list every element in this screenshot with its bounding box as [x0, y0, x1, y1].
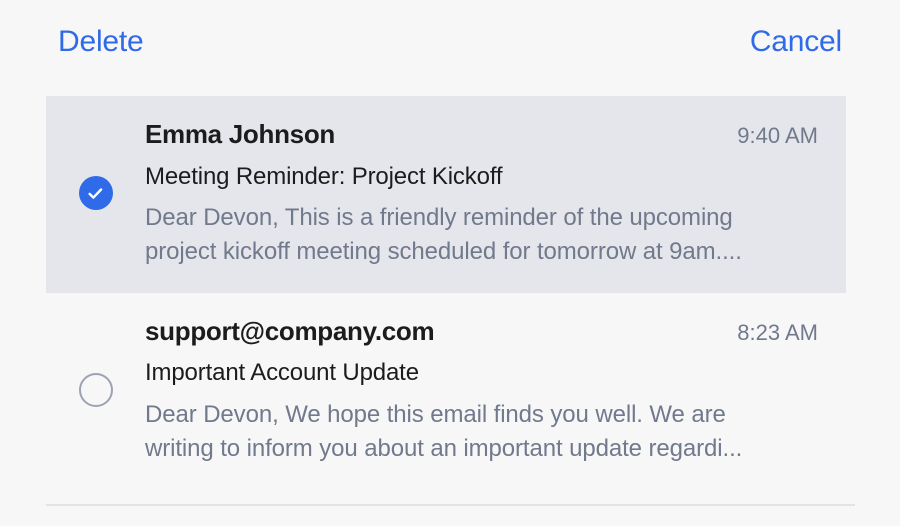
email-list: Emma Johnson 9:40 AM Meeting Reminder: P…	[0, 96, 900, 490]
email-timestamp: 9:40 AM	[737, 122, 818, 150]
delete-button[interactable]: Delete	[58, 27, 144, 57]
email-header-line: Emma Johnson 9:40 AM	[145, 118, 818, 151]
email-sender: support@company.com	[145, 315, 434, 348]
list-divider	[46, 504, 855, 506]
email-preview: Dear Devon, We hope this email finds you…	[145, 398, 790, 466]
email-sender: Emma Johnson	[145, 118, 335, 151]
circle-outline-icon[interactable]	[79, 373, 113, 407]
cancel-button[interactable]: Cancel	[750, 27, 842, 57]
email-list-item-selected[interactable]: Emma Johnson 9:40 AM Meeting Reminder: P…	[46, 96, 846, 293]
email-subject: Meeting Reminder: Project Kickoff	[145, 161, 818, 192]
select-checkbox-cell[interactable]	[46, 118, 145, 269]
email-selection-screen: Delete Cancel Emma Johnson 9:40 AM	[0, 0, 900, 526]
email-content: Emma Johnson 9:40 AM Meeting Reminder: P…	[145, 118, 846, 269]
check-circle-filled-icon[interactable]	[79, 176, 113, 210]
email-subject: Important Account Update	[145, 357, 818, 388]
email-header-line: support@company.com 8:23 AM	[145, 315, 818, 348]
email-list-item[interactable]: support@company.com 8:23 AM Important Ac…	[46, 293, 846, 490]
select-checkbox-cell[interactable]	[46, 315, 145, 466]
email-preview: Dear Devon, This is a friendly reminder …	[145, 201, 790, 269]
email-content: support@company.com 8:23 AM Important Ac…	[145, 315, 846, 466]
action-bar: Delete Cancel	[0, 0, 900, 84]
email-timestamp: 8:23 AM	[737, 319, 818, 347]
